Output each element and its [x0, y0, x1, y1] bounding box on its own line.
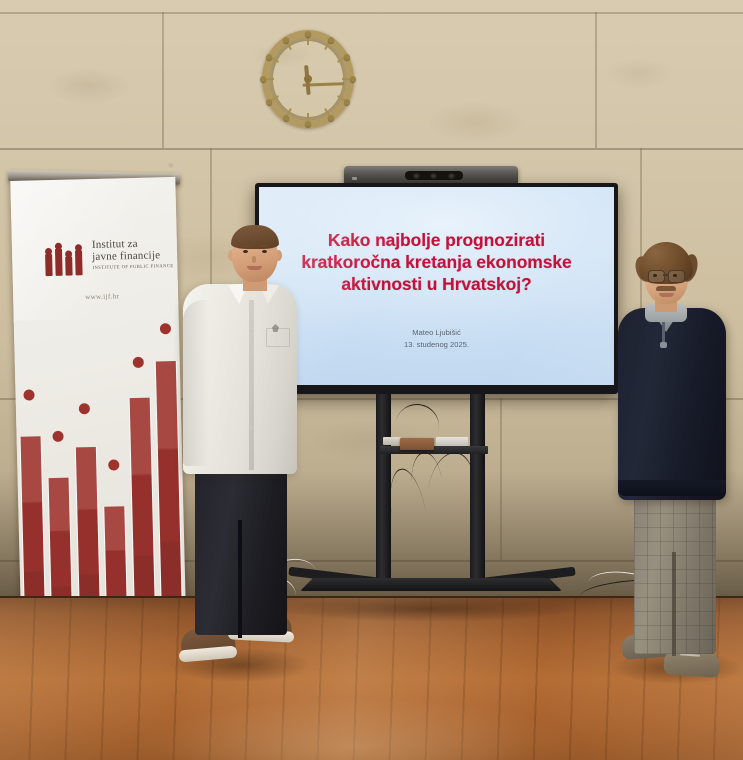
clock-stud — [260, 76, 266, 82]
shirt-button — [250, 394, 253, 397]
camera-lens-cluster-icon — [405, 171, 463, 180]
institute-name: Institut za javne financije INSTITUTE OF… — [92, 237, 175, 270]
clock-stud — [344, 54, 350, 60]
shelf-device — [436, 437, 468, 446]
rollup-banner: Institut za javne financije INSTITUTE OF… — [6, 166, 186, 670]
trouser-seam — [238, 520, 242, 638]
shirt-button — [250, 426, 253, 429]
clock-stud — [283, 115, 289, 121]
institute-url: www.ijf.hr — [85, 292, 119, 301]
camera-status-led-icon — [352, 177, 357, 180]
mouth — [247, 266, 262, 270]
stand-shelf — [380, 446, 488, 454]
wall-seam — [0, 148, 743, 150]
wall-seam — [0, 12, 743, 14]
navy-sweater — [618, 308, 726, 500]
clock-icon — [262, 30, 354, 128]
zip-pull-icon — [660, 342, 667, 348]
chart-dot — [24, 389, 35, 400]
shirt-shading — [183, 300, 209, 466]
camera-lens-icon — [413, 173, 420, 179]
clock-stud — [266, 99, 272, 105]
trouser-seam — [672, 552, 676, 656]
chart-dot — [52, 431, 63, 442]
slide-title: Kako najbolje prognozirati kratkoročna k… — [267, 229, 606, 295]
slide-screen: Kako najbolje prognozirati kratkoročna k… — [259, 187, 614, 385]
clock-stud — [266, 54, 272, 60]
eye — [673, 274, 677, 277]
clock-tick — [263, 78, 308, 80]
camera-lens-icon — [430, 173, 437, 179]
eye — [653, 274, 657, 277]
clock-stud — [328, 37, 334, 43]
camera-lens-icon — [448, 173, 455, 179]
clock-tick — [308, 78, 353, 80]
shirt-pocket — [266, 328, 290, 347]
mouth — [659, 293, 674, 297]
slide-author: Mateo Ljubišić — [267, 327, 606, 339]
wall-seam — [162, 12, 164, 148]
eyeglasses-icon — [648, 270, 665, 283]
clock-center-cap — [304, 75, 312, 83]
presentation-display[interactable]: Kako najbolje prognozirati kratkoročna k… — [255, 183, 618, 394]
stand-shadow — [276, 596, 576, 622]
shirt-button — [250, 362, 253, 365]
clock-stud — [305, 121, 311, 127]
eye — [262, 250, 267, 253]
photo-scene: Institut za javne financije INSTITUTE OF… — [0, 0, 743, 760]
slide-title-line2: kratkoročna kretanja ekonomske — [267, 251, 606, 273]
slide-date: 13. studenog 2025. — [267, 339, 606, 351]
moustache — [656, 286, 676, 291]
eyebrow — [260, 245, 268, 247]
institute-name-line2: javne financije — [92, 249, 174, 263]
chart-dot — [133, 357, 144, 368]
stand-column — [376, 394, 391, 590]
eyebrow — [242, 245, 250, 247]
institute-logo-icon — [44, 241, 87, 276]
sweater-hem — [618, 480, 726, 496]
clock-stud — [344, 99, 350, 105]
banner-artwork: Institut za javne financije INSTITUTE OF… — [10, 177, 186, 653]
eyeglasses-bridge — [663, 274, 668, 276]
chart-dot — [160, 323, 171, 334]
stand-base — [300, 578, 562, 591]
clock-stud — [350, 76, 356, 82]
eye — [243, 250, 248, 253]
clock-stud — [305, 31, 311, 37]
shirt-button — [250, 330, 253, 333]
slide-title-line3: aktivnosti u Hrvatskoj? — [267, 273, 606, 295]
shirt-placket — [249, 300, 254, 470]
clock-stud — [328, 115, 334, 121]
clock-stud — [283, 37, 289, 43]
chart-dot — [79, 403, 90, 414]
slide-subtitle: Mateo Ljubišić 13. studenog 2025. — [267, 327, 606, 351]
chart-dot — [108, 459, 119, 470]
slide-title-line1: Kako najbolje prognozirati — [267, 229, 606, 251]
nose — [252, 256, 256, 263]
wall-seam — [595, 12, 597, 148]
eyeglasses-icon — [668, 270, 685, 283]
